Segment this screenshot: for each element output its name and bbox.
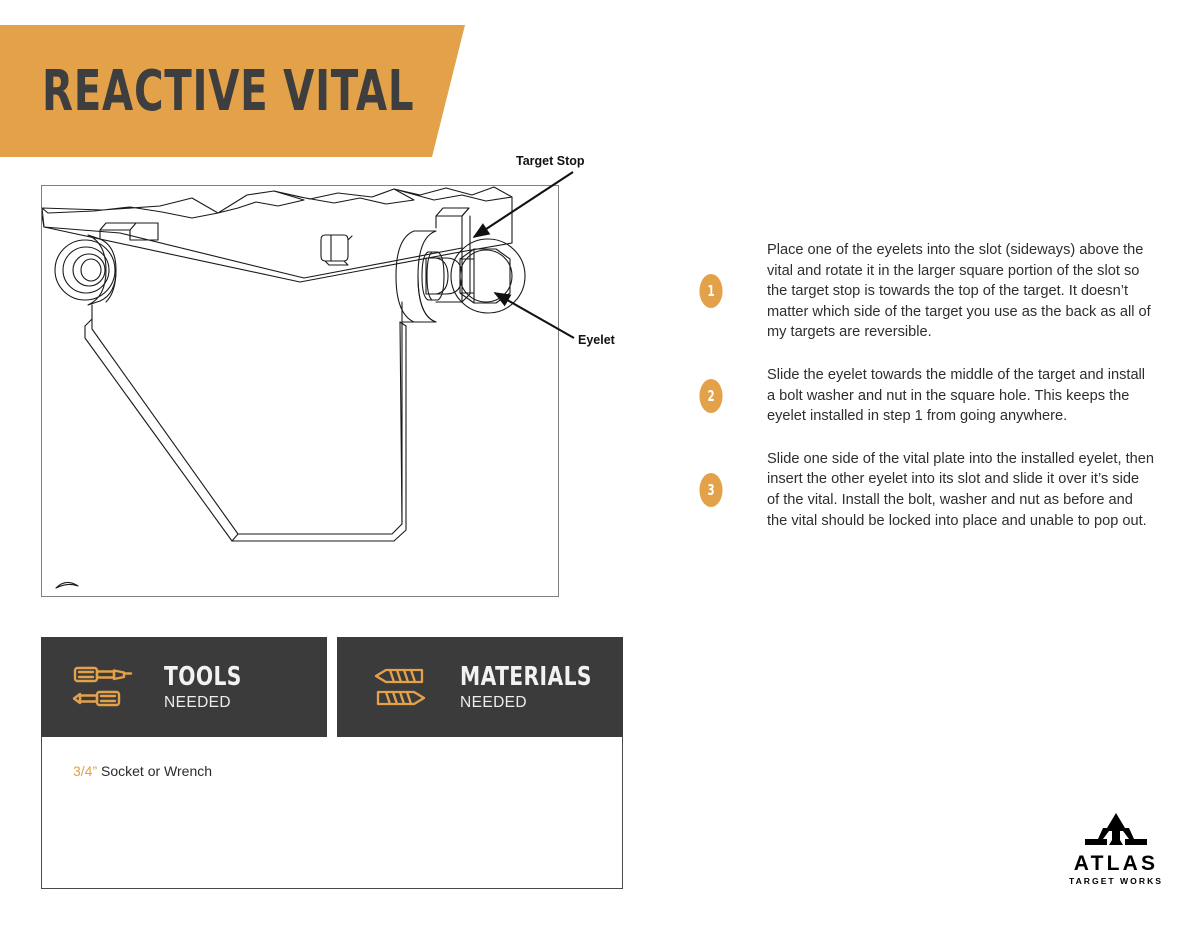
step-text: Slide one side of the vital plate into t… <box>767 449 1154 531</box>
instruction-sheet-page: REACTIVE VITAL <box>0 0 1200 927</box>
materials-titles: MATERIALS NEEDED <box>460 664 629 711</box>
tools-title: TOOLS <box>164 664 242 690</box>
bottom-arc-detail <box>56 582 78 588</box>
step-item: 2 Slide the eyelet towards the middle of… <box>694 365 1154 427</box>
materials-needed-header: MATERIALS NEEDED <box>337 637 623 737</box>
materials-title: MATERIALS <box>460 664 592 690</box>
step-number-badge: 3 <box>699 473 722 507</box>
step-badge-wrap: 1 <box>694 274 728 308</box>
callout-label-target-stop: Target Stop <box>516 154 585 168</box>
step-item: 1 Place one of the eyelets into the slot… <box>694 240 1154 343</box>
tools-needed-header: TOOLS NEEDED <box>41 637 327 737</box>
left-eyelet <box>55 223 158 305</box>
screwdrivers-icon <box>72 662 136 712</box>
step-item: 3 Slide one side of the vital plate into… <box>694 449 1154 531</box>
materials-subtitle: NEEDED <box>460 694 629 711</box>
header-banner: REACTIVE VITAL <box>0 25 465 157</box>
page-title: REACTIVE VITAL <box>42 59 414 124</box>
step-badge-wrap: 2 <box>694 379 728 413</box>
step-badge-wrap: 3 <box>694 473 728 507</box>
step-text: Slide the eyelet towards the middle of t… <box>767 365 1154 427</box>
step-number-badge: 1 <box>699 274 722 308</box>
atlas-a-mark-icon <box>1085 812 1147 852</box>
step-text: Place one of the eyelets into the slot (… <box>767 240 1154 343</box>
tools-materials-list: 3/4” Socket or Wrench <box>41 737 623 889</box>
tools-subtitle: NEEDED <box>164 694 264 711</box>
instruction-steps: 1 Place one of the eyelets into the slot… <box>694 240 1154 553</box>
tools-titles: TOOLS NEEDED <box>164 664 264 711</box>
list-item: 3/4” Socket or Wrench <box>73 763 622 779</box>
logo-tagline: TARGET WORKS <box>1057 876 1175 886</box>
right-eyelet <box>396 208 525 522</box>
assembly-drawing-svg <box>42 186 558 596</box>
vital-plate <box>85 305 406 541</box>
screws-icon <box>368 662 432 712</box>
item-quantity: 3/4” <box>73 763 97 779</box>
item-name: Socket or Wrench <box>97 763 212 779</box>
logo-name: ATLAS <box>1057 853 1175 875</box>
plate-square-hole <box>321 235 352 265</box>
assembly-diagram <box>41 185 559 597</box>
brand-logo: ATLAS TARGET WORKS <box>1057 812 1175 890</box>
callout-label-eyelet: Eyelet <box>578 333 615 347</box>
step-number-badge: 2 <box>699 379 722 413</box>
